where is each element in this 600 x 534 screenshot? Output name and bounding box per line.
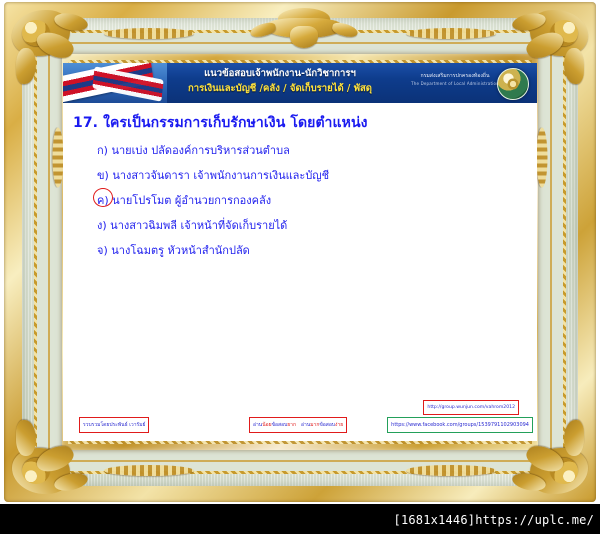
answer-option-key-4: จ) [97, 241, 108, 259]
screenshot-root: แนวข้อสอบเจ้าพนักงาน-นักวิชาการฯ การเงิน… [0, 0, 600, 534]
answer-option-4[interactable]: จ) นางโฉมตรู หัวหน้าสำนักปลัด [97, 241, 537, 259]
frame-garland-top-right [406, 28, 496, 39]
picture-frame: แนวข้อสอบเจ้าพนักงาน-นักวิชาการฯ การเงิน… [4, 2, 596, 502]
frame-garland-top-left [104, 28, 194, 39]
frame-garland-left [53, 128, 64, 188]
watermark-url: https://uplc.me/ [475, 513, 594, 527]
motto-part-7: ข้อสอบ [319, 421, 335, 430]
watermark-strip: [1681x1446]https://uplc.me/ [0, 504, 600, 534]
thai-flag-icon [63, 63, 167, 103]
answer-option-key-1: ข) [97, 166, 109, 184]
facebook-url-box[interactable]: https://www.facebook.com/groups/15397911… [387, 417, 533, 433]
answer-option-text-0: นายเบ่ง ปลัดองค์การบริหารส่วนตำบล [111, 144, 289, 157]
department-seal-icon [497, 68, 529, 100]
question-body: 17. ใครเป็นกรรมการเก็บรักษาเงิน โดยตำแหน… [63, 103, 537, 402]
frame-garland-bottom-right [406, 465, 496, 476]
motto-part-5: อ่าน [301, 421, 310, 430]
answer-option-key-2: ค) [97, 191, 109, 209]
answer-option-text-1: นางสาวจันดารา เจ้าพนักงานการเงินและบัญชี [112, 169, 329, 182]
motto-part-6: มาก [310, 421, 319, 430]
answer-option-0[interactable]: ก) นายเบ่ง ปลัดองค์การบริหารส่วนตำบล [97, 141, 537, 159]
answer-option-key-3: ง) [97, 216, 107, 234]
banner-department: กรมส่งเสริมการปกครองท้องถิ่น The Departm… [407, 72, 503, 88]
banner-title: แนวข้อสอบเจ้าพนักงาน-นักวิชาการฯ การเงิน… [155, 66, 405, 96]
answer-option-2[interactable]: ค) นายโปรโมต ผู้อำนวยการกองคลัง [97, 191, 537, 209]
motto-part-1: อ่าน [253, 421, 262, 430]
slide-page: แนวข้อสอบเจ้าพนักงาน-นักวิชาการฯ การเงิน… [63, 63, 537, 441]
answer-option-key-0: ก) [97, 141, 108, 159]
answer-option-text-2: นายโปรโมต ผู้อำนวยการกองคลัง [112, 194, 271, 207]
answer-option-1[interactable]: ข) นางสาวจันดารา เจ้าพนักงานการเงินและบั… [97, 166, 537, 184]
watermark-dimensions: [1681x1446] [394, 513, 476, 527]
credit-box: รวบรวมโดยประพันธ์ เวารัมย์ [79, 417, 149, 433]
motto-box: อ่านน้อยข้อสอบยากอ่านมากข้อสอบง่าย [249, 417, 347, 433]
banner-title-line2: การเงินและบัญชี /คลัง / จัดเก็บรายได้ / … [155, 81, 405, 96]
page-title: 17. ใครเป็นกรรมการเก็บรักษาเงิน โดยตำแหน… [73, 112, 537, 134]
banner-department-en: The Department of Local Administration [407, 80, 503, 88]
slide-header-banner: แนวข้อสอบเจ้าพนักงาน-นักวิชาการฯ การเงิน… [63, 63, 537, 103]
motto-part-3: ข้อสอบ [272, 421, 288, 430]
answer-option-text-3: นางสาวฉิมพลี เจ้าหน้าที่จัดเก็บรายได้ [110, 219, 287, 232]
group-url-box[interactable]: http://group.wunjun.com/vahrom2012 [423, 400, 519, 415]
banner-department-th: กรมส่งเสริมการปกครองท้องถิ่น [407, 72, 503, 80]
motto-part-2: น้อย [262, 421, 271, 430]
watermark-text: [1681x1446]https://uplc.me/ [394, 513, 594, 527]
frame-garland-right [537, 128, 548, 188]
motto-part-4: ยาก [287, 421, 296, 430]
banner-title-line1: แนวข้อสอบเจ้าพนักงาน-นักวิชาการฯ [155, 66, 405, 81]
answer-option-text-4: นางโฉมตรู หัวหน้าสำนักปลัด [111, 244, 250, 257]
answer-option-3[interactable]: ง) นางสาวฉิมพลี เจ้าหน้าที่จัดเก็บรายได้ [97, 216, 537, 234]
frame-garland-bottom-left [104, 465, 194, 476]
motto-part-8: ง่าย [335, 421, 343, 430]
slide-footer: รวบรวมโดยประพันธ์ เวารัมย์ อ่านน้อยข้อสอ… [63, 389, 537, 441]
